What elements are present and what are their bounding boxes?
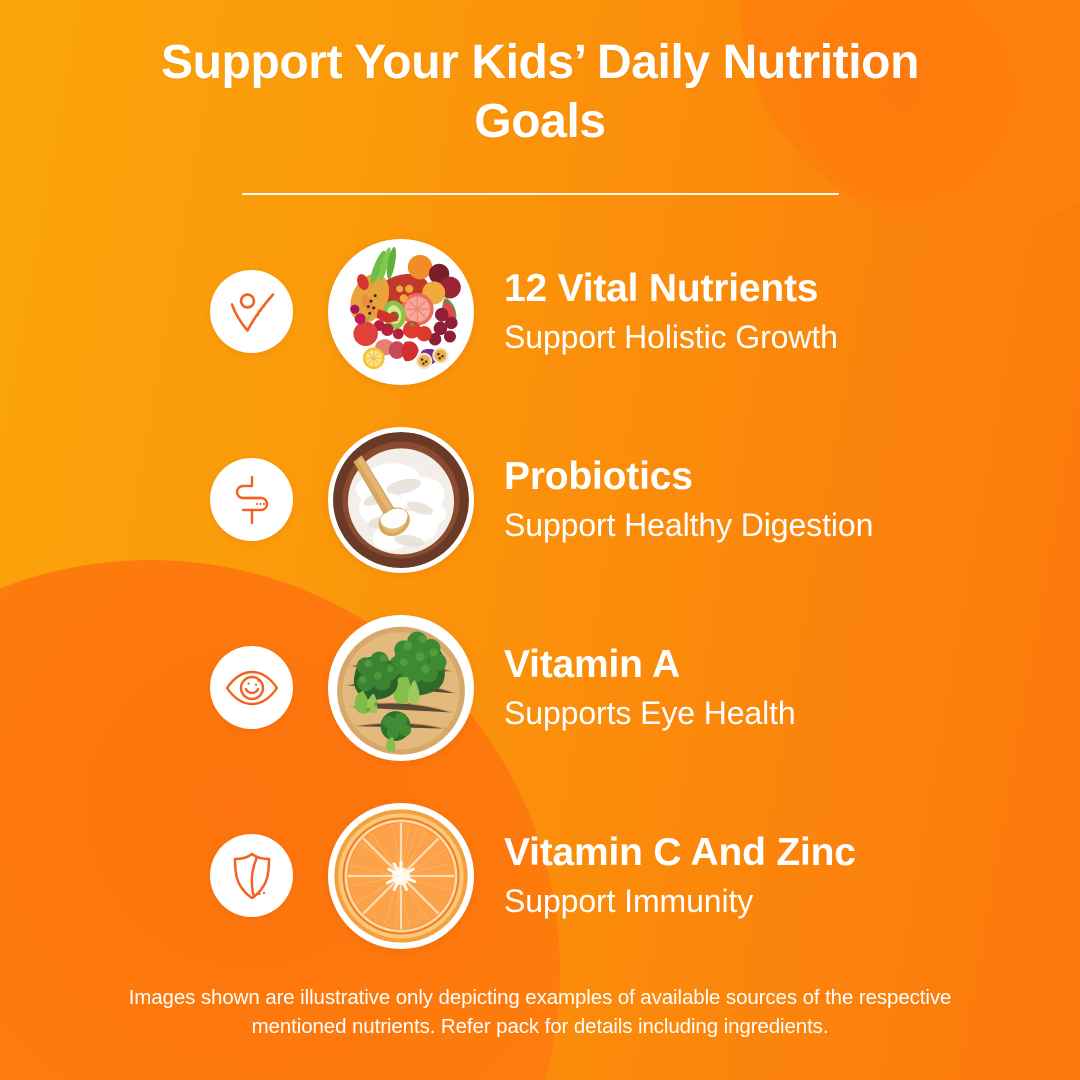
- page-title: Support Your Kids’ Daily Nutrition Goals: [0, 34, 1080, 151]
- orange-slice-photo: [328, 803, 474, 949]
- nutrition-infographic-poster: Support Your Kids’ Daily Nutrition Goals: [0, 0, 1080, 1080]
- feature-title: Probiotics: [504, 455, 873, 499]
- feature-row: Probiotics Support Healthy Digestion: [210, 427, 1080, 572]
- feature-text-block: Vitamin A Supports Eye Health: [504, 643, 796, 733]
- feature-row: 12 Vital Nutrients Support Holistic Grow…: [210, 239, 1080, 384]
- broccoli-photo: [328, 615, 474, 761]
- feature-subtitle: Support Immunity: [504, 882, 856, 920]
- feature-subtitle: Support Healthy Digestion: [504, 506, 873, 544]
- person-check-icon: [210, 270, 293, 353]
- feature-row: Vitamin A Supports Eye Health: [210, 615, 1080, 760]
- feature-row: Vitamin C And Zinc Support Immunity: [210, 803, 1080, 948]
- feature-text-block: Vitamin C And Zinc Support Immunity: [504, 831, 856, 921]
- feature-title: 12 Vital Nutrients: [504, 267, 838, 311]
- feature-subtitle: Supports Eye Health: [504, 694, 796, 732]
- yogurt-bowl-photo: [328, 427, 474, 573]
- feature-title: Vitamin C And Zinc: [504, 831, 856, 875]
- feature-text-block: Probiotics Support Healthy Digestion: [504, 455, 873, 545]
- title-divider: [242, 193, 839, 195]
- feature-text-block: 12 Vital Nutrients Support Holistic Grow…: [504, 267, 838, 357]
- disclaimer-text: Images shown are illustrative only depic…: [118, 983, 962, 1042]
- footer: Images shown are illustrative only depic…: [0, 983, 1080, 1042]
- intestine-icon: [210, 458, 293, 541]
- fruits-and-vegetables-photo: [328, 239, 474, 385]
- eye-icon: [210, 646, 293, 729]
- feature-subtitle: Support Holistic Growth: [504, 318, 838, 356]
- feature-list: 12 Vital Nutrients Support Holistic Grow…: [0, 239, 1080, 948]
- poster-header: Support Your Kids’ Daily Nutrition Goals: [0, 0, 1080, 195]
- shield-icon: [210, 834, 293, 917]
- feature-title: Vitamin A: [504, 643, 796, 687]
